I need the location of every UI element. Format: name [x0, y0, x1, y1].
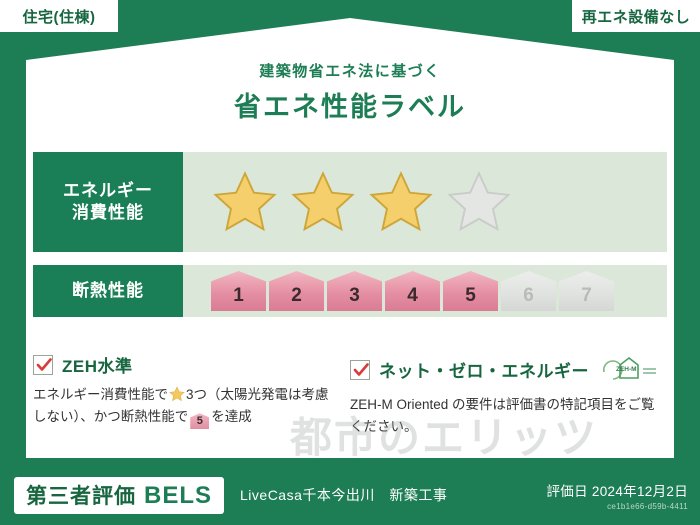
zeh-m-logo-icon: ZEH-M — [600, 352, 662, 387]
insulation-level-6: 6 — [501, 271, 556, 311]
star-icon — [169, 386, 185, 402]
insulation-level-3: 3 — [327, 271, 382, 311]
title-block: 建築物省エネ法に基づく 省エネ性能ラベル — [0, 60, 700, 124]
inline-insulation-badge: 5 — [190, 413, 209, 429]
title-subtitle: 建築物省エネ法に基づく — [0, 60, 700, 81]
page-title: 省エネ性能ラベル — [0, 85, 700, 124]
checkbox-net-zero-energy[interactable] — [350, 360, 370, 380]
building-name: LiveCasa千本今出川 新築工事 — [240, 485, 546, 505]
claim-nze-body: ZEH-M Oriented の要件は評価書の特記項目をご覧ください。 — [350, 394, 657, 439]
insulation-level-7: 7 — [559, 271, 614, 311]
checkbox-zeh-standard[interactable] — [33, 355, 53, 375]
star-icon-filled — [367, 169, 435, 235]
energy-label-line1: エネルギー — [63, 180, 153, 202]
bels-label-en: BELS — [144, 482, 212, 510]
claim-nze-header: ネット・ゼロ・エネルギー ZEH-M — [350, 352, 657, 387]
evaluation-id: ce1b1e66-d59b-4411 — [546, 502, 688, 511]
insulation-level-5: 5 — [443, 271, 498, 311]
insulation-level-2: 2 — [269, 271, 324, 311]
evaluation-info: 評価日 2024年12月2日 ce1b1e66-d59b-4411 — [546, 480, 688, 511]
energy-performance-row: エネルギー 消費性能 — [33, 152, 667, 252]
insulation-performance-row: 断熱性能 1234567 — [33, 265, 667, 317]
corner-tab-renewable-status: 再エネ設備なし — [572, 0, 700, 32]
claim-zeh-body-part1: エネルギー消費性能で — [33, 387, 168, 402]
claims-section: ZEH水準 エネルギー消費性能で 3つ（太陽光発電は考慮しない）、かつ断熱性能で… — [33, 352, 667, 439]
insulation-level-scale: 1234567 — [211, 271, 614, 311]
energy-label-line2: 消費性能 — [72, 202, 144, 224]
insulation-level-4: 4 — [385, 271, 440, 311]
claim-zeh-header: ZEH水準 — [33, 352, 340, 377]
corner-tab-building-type: 住宅(住棟) — [0, 0, 118, 32]
star-icon-empty — [445, 169, 513, 235]
star-icon-filled — [211, 169, 279, 235]
insulation-performance-value: 1234567 — [183, 265, 667, 317]
claim-zeh-body-part3: を達成 — [211, 409, 252, 424]
bels-label-jp: 第三者評価 — [26, 480, 136, 510]
bels-certification-badge: 第三者評価 BELS — [14, 477, 224, 514]
bels-energy-label: 住宅(住棟) 再エネ設備なし 建築物省エネ法に基づく 省エネ性能ラベル エネルギ… — [0, 0, 700, 525]
claim-net-zero-energy: ネット・ゼロ・エネルギー ZEH-M ZEH-M Oriented の要件は評価… — [350, 352, 667, 439]
claim-nze-title: ネット・ゼロ・エネルギー — [379, 357, 589, 382]
energy-performance-value — [183, 152, 667, 252]
svg-text:ZEH-M: ZEH-M — [616, 366, 637, 373]
energy-performance-label: エネルギー 消費性能 — [33, 152, 183, 252]
insulation-performance-label: 断熱性能 — [33, 265, 183, 317]
claim-zeh-body: エネルギー消費性能で 3つ（太陽光発電は考慮しない）、かつ断熱性能で5を達成 — [33, 384, 340, 429]
star-icon-filled — [289, 169, 357, 235]
footer-bar: 第三者評価 BELS LiveCasa千本今出川 新築工事 評価日 2024年1… — [0, 465, 700, 525]
claim-zeh-standard: ZEH水準 エネルギー消費性能で 3つ（太陽光発電は考慮しない）、かつ断熱性能で… — [33, 352, 350, 439]
check-icon — [35, 356, 53, 374]
check-icon — [352, 361, 370, 379]
claim-zeh-title: ZEH水準 — [62, 352, 133, 377]
insulation-level-1: 1 — [211, 271, 266, 311]
star-rating — [211, 169, 513, 235]
evaluation-date: 評価日 2024年12月2日 — [546, 480, 688, 500]
